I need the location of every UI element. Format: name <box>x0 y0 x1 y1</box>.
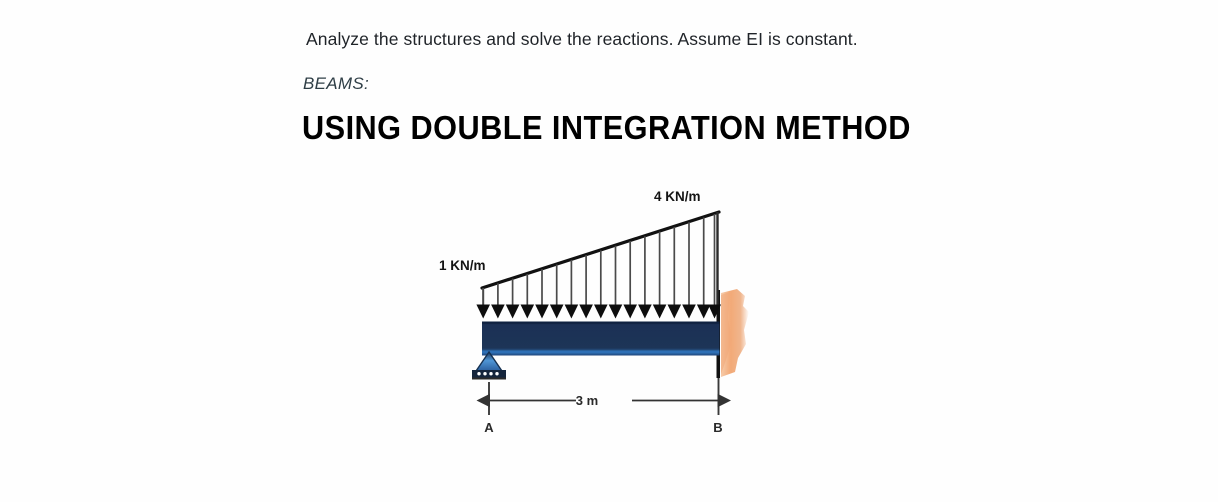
load-label-left: 1 KN/m <box>439 258 486 273</box>
pin-support-a <box>472 352 506 380</box>
beam-diagram: 1 KN/m 4 KN/m 3 m A B <box>0 0 1218 502</box>
load-label-right: 4 KN/m <box>654 189 701 204</box>
node-label-a: A <box>484 420 494 435</box>
node-label-b: B <box>713 420 722 435</box>
load-arrows <box>476 214 721 319</box>
span-dimension <box>489 378 719 415</box>
distributed-load <box>476 212 721 319</box>
fixed-support-wall-b <box>717 289 750 378</box>
span-length-label: 3 m <box>576 393 598 408</box>
page-canvas: Analyze the structures and solve the rea… <box>0 0 1218 502</box>
beam-member <box>482 322 720 356</box>
